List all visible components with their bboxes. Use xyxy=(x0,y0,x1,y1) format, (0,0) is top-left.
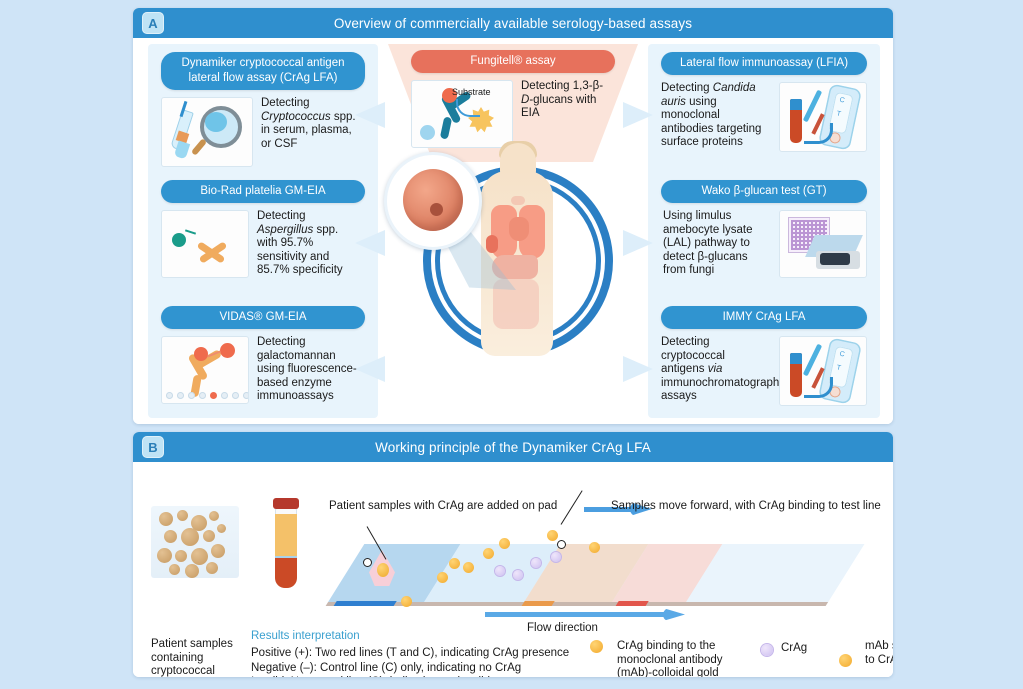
mab-gold-icon xyxy=(835,638,859,670)
results-heading: Results interpretation xyxy=(251,630,581,642)
assay-immy-description: Detecting cryptococcal antigens via immu… xyxy=(661,336,771,404)
panel-b-title: Working principle of the Dynamiker CrAg … xyxy=(375,440,651,455)
assay-biorad-description: Detecting Aspergillus spp. with 95.7% se… xyxy=(257,210,361,278)
assay-dynamiker-description: Detecting Cryptococcus spp. in serum, pl… xyxy=(261,97,361,151)
leader-dot-1 xyxy=(363,558,372,567)
lfa-cassette-icon: C T xyxy=(779,82,867,152)
legend-text-mab: mAb specific to CrAg xyxy=(865,640,893,667)
flow-direction-arrow-icon xyxy=(485,610,685,619)
human-body-organs-icon xyxy=(388,138,638,423)
panel-b: B Working principle of the Dynamiker CrA… xyxy=(133,432,893,677)
cryptococcus-cells-image xyxy=(151,506,239,578)
test-tube-magnifier-icon xyxy=(161,97,253,167)
result-line-positive: Positive (+): Two red lines (T and C), i… xyxy=(251,646,581,661)
assay-biorad[interactable]: Bio-Rad platelia GM-EIA Detecting Asperg… xyxy=(161,180,365,278)
microplate-reader-icon xyxy=(779,210,867,278)
sample-pad-line xyxy=(334,601,397,606)
cryptococcus-cell-zoom-icon xyxy=(384,152,482,250)
leader-dot-2 xyxy=(557,540,566,549)
crag-gold-antibody-icon xyxy=(585,640,609,670)
panel-a: A Overview of commercially available ser… xyxy=(133,8,893,424)
assay-dynamiker-title: Dynamiker cryptococcal antigen lateral f… xyxy=(161,52,365,90)
control-line-red xyxy=(616,601,649,606)
assay-wako[interactable]: Wako β-glucan test (GT) Using limulus am… xyxy=(661,180,867,278)
panel-a-letter: A xyxy=(142,12,164,34)
panel-a-body: Dynamiker cryptococcal antigen lateral f… xyxy=(133,38,893,424)
result-line-negative: Negative (–): Control line (C) only, ind… xyxy=(251,661,581,676)
assay-lfia[interactable]: Lateral flow immunoassay (LFIA) C T xyxy=(661,52,867,152)
assay-lfia-description: Detecting Candida auris using monoclonal… xyxy=(661,82,771,150)
step2-label: Samples move forward, with CrAg binding … xyxy=(611,500,881,512)
blood-collection-tube-icon xyxy=(273,498,299,588)
substrate-label: Substrate xyxy=(452,87,491,97)
assay-fungitell-description: Detecting 1,3-β-D-glucans with EIA xyxy=(521,80,613,121)
assay-immy[interactable]: IMMY CrAg LFA C T xyxy=(661,306,867,406)
assay-vidas[interactable]: VIDAS® GM-EIA xyxy=(161,306,365,404)
results-interpretation: Results interpretation Positive (+): Two… xyxy=(251,630,581,677)
panel-a-header: A Overview of commercially available ser… xyxy=(133,8,893,38)
legend-text-crag: CrAg xyxy=(781,642,807,656)
panel-b-header: B Working principle of the Dynamiker CrA… xyxy=(133,432,893,462)
assay-dynamiker[interactable]: Dynamiker cryptococcal antigen lateral f… xyxy=(161,52,365,167)
assay-wako-description: Using limulus amebocyte lysate (LAL) pat… xyxy=(663,210,771,278)
legend-text-gold-complex: CrAg binding to the monoclonal antibody … xyxy=(617,640,757,677)
leader-line-2 xyxy=(561,490,583,524)
assay-vidas-description: Detecting galactomannan using fluorescen… xyxy=(257,336,361,404)
assay-wako-title: Wako β-glucan test (GT) xyxy=(661,180,867,203)
antibody-fluorescence-icon xyxy=(161,336,249,404)
lateral-flow-strip-diagram: Flow direction xyxy=(345,530,880,625)
assay-dynamiker-title-line2: lateral flow assay (CrAg LFA) xyxy=(189,72,338,84)
lfa-cassette-icon: C T xyxy=(779,336,867,406)
assay-immy-title: IMMY CrAg LFA xyxy=(661,306,867,329)
assay-lfia-title: Lateral flow immunoassay (LFIA) xyxy=(661,52,867,75)
assay-dynamiker-title-line1: Dynamiker cryptococcal antigen xyxy=(182,57,345,69)
assay-fungitell[interactable]: Fungitell® assay Substrate Detecting 1,3… xyxy=(411,50,615,148)
sample-caption: Patient samples containing cryptococcal … xyxy=(151,638,251,677)
panel-b-body: Patient samples with CrAg are added on p… xyxy=(133,462,893,677)
assay-biorad-title: Bio-Rad platelia GM-EIA xyxy=(161,180,365,203)
assay-fungitell-title: Fungitell® assay xyxy=(411,50,615,73)
panel-a-title: Overview of commercially available serol… xyxy=(334,16,692,31)
result-line-invalid: Invalid: No control line (C), indicating… xyxy=(251,675,581,677)
antibody-conjugate-icon xyxy=(161,210,249,278)
step1-label: Patient samples with CrAg are added on p… xyxy=(329,500,557,512)
figure-canvas: A Overview of commercially available ser… xyxy=(0,0,1023,689)
assay-vidas-title: VIDAS® GM-EIA xyxy=(161,306,365,329)
test-line-orange xyxy=(522,601,555,606)
panel-b-letter: B xyxy=(142,436,164,458)
